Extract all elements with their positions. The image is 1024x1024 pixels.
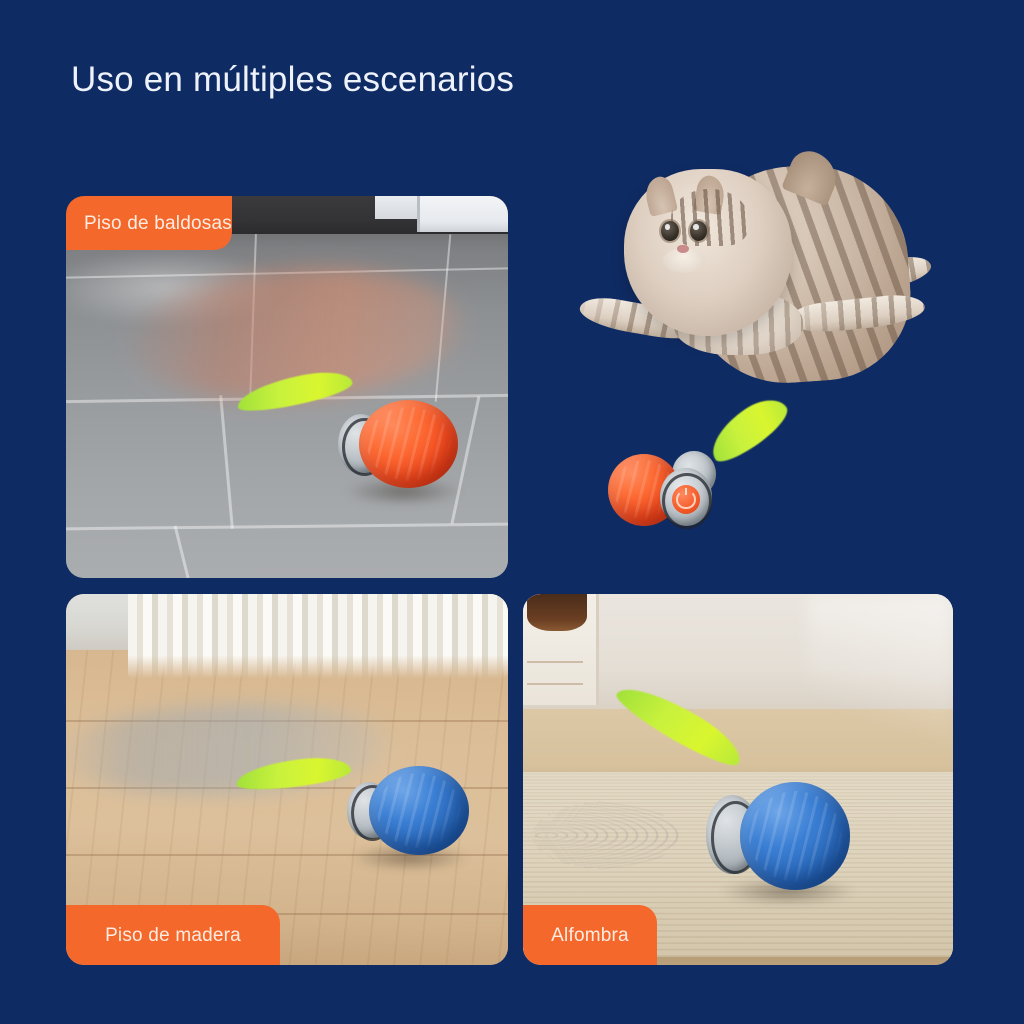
curtain-panel-white [128, 594, 508, 679]
power-symbol-icon [676, 490, 695, 510]
toy-ball-ribs [749, 791, 842, 882]
power-button-icon[interactable] [672, 485, 700, 514]
scene-badge-rug[interactable]: Alfombra [523, 905, 657, 965]
kitten-eye-left [661, 221, 679, 241]
kitten-eye-right [690, 221, 708, 241]
scene-badge-tile[interactable]: Piso de baldosas [66, 196, 232, 250]
scene-badge-label: Piso de baldosas [84, 214, 232, 233]
toy-ball-ribs [377, 773, 461, 848]
toy-ball-body [740, 782, 851, 890]
toy-ball-body [359, 400, 458, 488]
scene-badge-wood[interactable]: Piso de madera [66, 905, 280, 965]
cat-ball-toy-blue [643, 720, 884, 928]
scene-badge-label: Piso de madera [105, 926, 241, 945]
cat-ball-toy-blue [314, 746, 500, 924]
page-title: Uso en múltiples escenarios [71, 57, 514, 103]
hero-cat-ball-toy [600, 425, 800, 545]
kitten-cutout [575, 150, 955, 420]
tile-photo-content [66, 196, 508, 578]
scene-photo-tile[interactable]: Piso de baldosas [66, 196, 508, 578]
picture-frame-art [527, 594, 587, 631]
tile-cabinet-back [375, 196, 419, 219]
scene-photo-wood[interactable]: Piso de madera [66, 594, 508, 965]
toy-ball-body [369, 766, 469, 855]
kitten-head [624, 169, 791, 336]
promo-page: Uso en múltiples escenarios [0, 0, 1024, 1024]
picture-frame-line [527, 683, 583, 685]
cat-ball-toy-orange [314, 376, 491, 552]
toy-ball-ribs [367, 407, 450, 481]
scene-photo-rug[interactable]: Alfombra [523, 594, 953, 965]
kitten-forehead-stripes [671, 189, 748, 246]
scene-badge-label: Alfombra [551, 926, 629, 945]
tile-cabinet [417, 196, 508, 232]
picture-frame-line [527, 661, 583, 663]
